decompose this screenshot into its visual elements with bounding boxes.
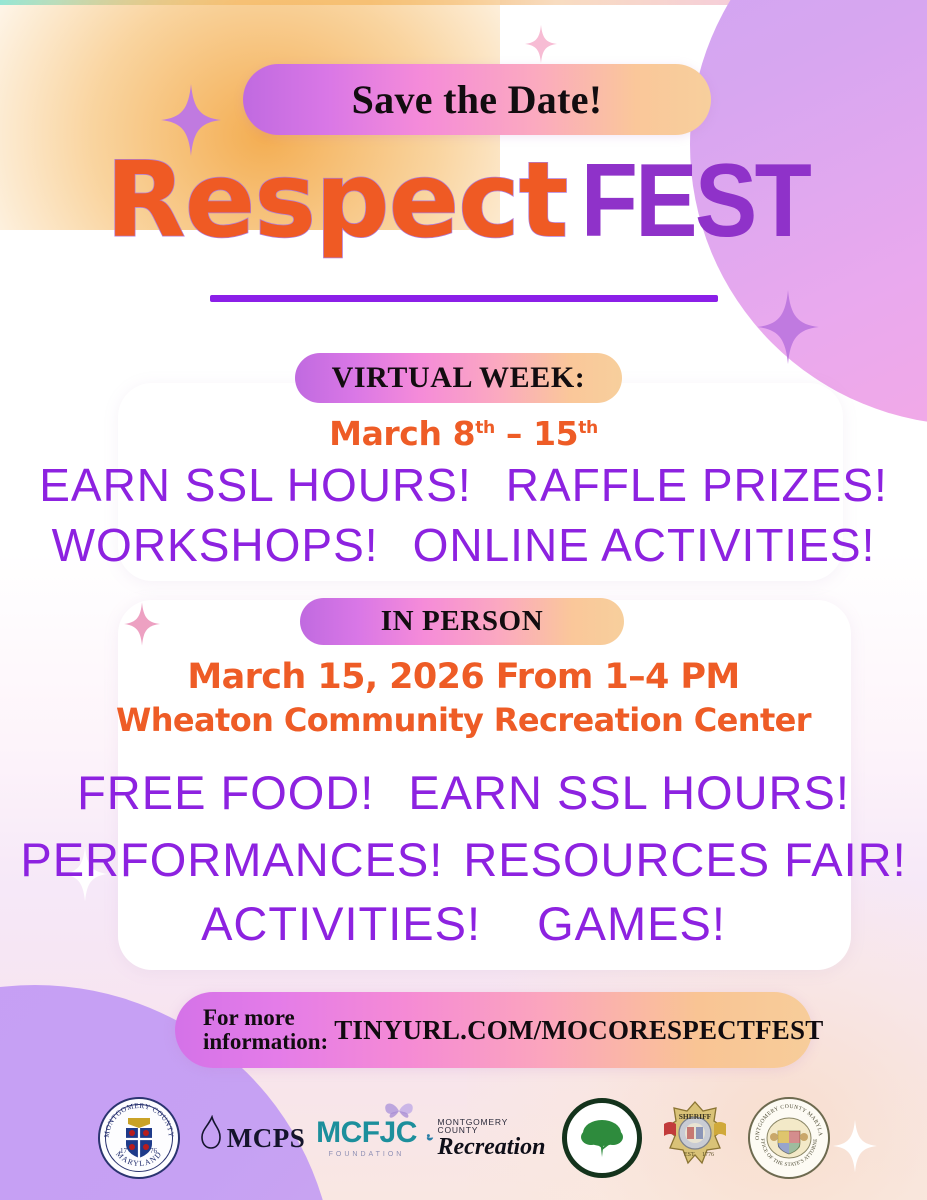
logo-montgomery-county-recreation: MONTGOMERY COUNTY Recreation (426, 1107, 546, 1169)
more-information-label: For more information: (203, 1006, 328, 1054)
recreation-figure-icon (426, 1121, 434, 1155)
save-the-date-label: Save the Date! (352, 76, 603, 123)
butterfly-icon (382, 1098, 416, 1124)
virtual-dates-prefix: March 8 (329, 414, 475, 453)
respectfest-flyer: Save the Date! RespectFEST VIRTUAL WEEK:… (0, 0, 927, 1200)
svg-text:76: 76 (150, 1147, 158, 1155)
svg-text:17: 17 (120, 1147, 128, 1155)
feature-resources-fair: RESOURCES FAIR! (463, 832, 906, 887)
recreation-label: Recreation (438, 1135, 546, 1159)
feature-games: GAMES! (537, 896, 726, 951)
svg-text:SHERIFF: SHERIFF (678, 1112, 711, 1121)
feature-free-food: FREE FOOD! (77, 765, 374, 820)
virtual-week-label: VIRTUAL WEEK: (332, 361, 586, 395)
feature-performances: PERFORMANCES! (20, 832, 443, 887)
logo-montgomery-county-states-attorney: MONTGOMERY COUNTY MARYLAND OFFICE OF THE… (748, 1097, 830, 1179)
sponsor-logo-strip: MONTGOMERY COUNTY MARYLAND 17 76 (0, 1088, 927, 1188)
feature-online-activities: ONLINE ACTIVITIES! (413, 518, 876, 572)
in-person-venue: Wheaton Community Recreation Center (0, 701, 927, 739)
svg-text:1776: 1776 (702, 1152, 714, 1158)
svg-text:EST: EST (684, 1152, 695, 1158)
virtual-dates-dash: – 15 (495, 414, 578, 453)
feature-earn-ssl-hours-inperson: EARN SSL HOURS! (408, 765, 850, 820)
virtual-week-dates: March 8th – 15th (0, 414, 927, 453)
logo-montgomery-county-sheriff: SHERIFF EST 1776 (658, 1097, 732, 1179)
in-person-label: IN PERSON (381, 605, 544, 638)
mcps-flame-icon (198, 1115, 224, 1161)
sheriff-badge-icon: SHERIFF EST 1776 (660, 1098, 730, 1178)
save-the-date-banner: Save the Date! (243, 64, 711, 135)
in-person-features-row-2: PERFORMANCES!RESOURCES FAIR! (0, 832, 927, 887)
feature-earn-ssl-hours-virtual: EARN SSL HOURS! (39, 458, 472, 512)
logo-montgomery-county-maryland: MONTGOMERY COUNTY MARYLAND 17 76 (98, 1097, 180, 1179)
logo-mcfjc-foundation: MCFJC FOUNDATION (324, 1102, 410, 1174)
virtual-week-badge: VIRTUAL WEEK: (295, 353, 622, 403)
logo-mcps: MCPS (196, 1108, 308, 1168)
svg-text:MONTGOMERY COUNTY MARYLAND: MONTGOMERY COUNTY MARYLAND (748, 1097, 823, 1140)
more-information-url[interactable]: TINYURL.COM/MOCORESPECTFEST (334, 1015, 823, 1046)
feature-raffle-prizes: RAFFLE PRIZES! (506, 458, 888, 512)
logo-montgomery-parks: MONTGOMERY PARKS M-NCPPC (562, 1098, 642, 1178)
in-person-badge: IN PERSON (300, 598, 624, 645)
recreation-toplabel: MONTGOMERY COUNTY (438, 1118, 546, 1135)
title-respect: Respect (106, 139, 568, 261)
title-fest: FEST (580, 148, 808, 254)
page-title: RespectFEST (0, 147, 927, 254)
in-person-features-row-3: ACTIVITIES!GAMES! (0, 896, 927, 951)
svg-text:MONTGOMERY PARKS: MONTGOMERY PARKS (562, 1098, 637, 1141)
feature-activities: ACTIVITIES! (201, 896, 481, 951)
virtual-features-row-1: EARN SSL HOURS!RAFFLE PRIZES! (0, 458, 927, 512)
virtual-dates-sup2: th (578, 418, 598, 438)
svg-text:M-NCPPC: M-NCPPC (584, 1153, 619, 1165)
svg-text:MONTGOMERY COUNTY: MONTGOMERY COUNTY (102, 1102, 174, 1138)
in-person-features-row-1: FREE FOOD!EARN SSL HOURS! (0, 765, 927, 820)
feature-workshops: WORKSHOPS! (52, 518, 379, 572)
title-divider-rule (210, 295, 718, 302)
virtual-features-row-2: WORKSHOPS!ONLINE ACTIVITIES! (0, 518, 927, 572)
in-person-date: March 15, 2026 From 1–4 PM (0, 657, 927, 697)
virtual-dates-sup1: th (475, 418, 495, 438)
sparkle-icon-card-left (124, 602, 160, 646)
mcfjc-sublabel: FOUNDATION (329, 1151, 405, 1158)
more-information-banner[interactable]: For more information: TINYURL.COM/MOCORE… (175, 992, 812, 1068)
mcps-label: MCPS (227, 1123, 306, 1154)
